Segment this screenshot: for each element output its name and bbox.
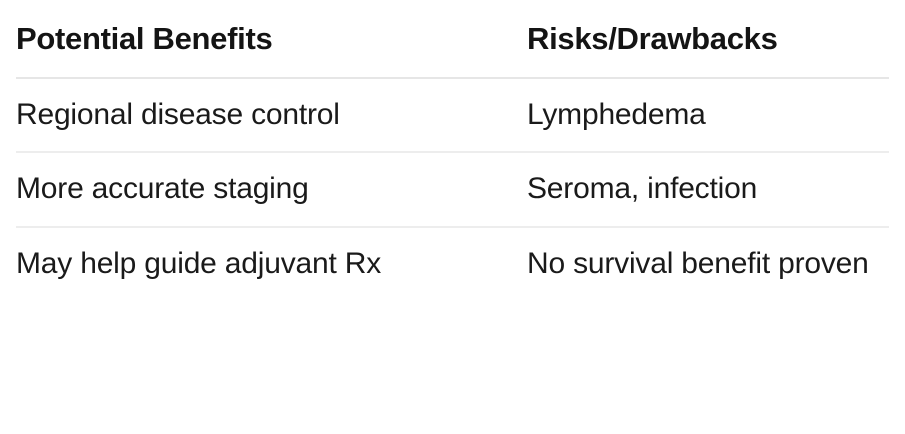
cell-text: More accurate staging [16,171,494,206]
table-cell-benefits: More accurate staging [16,152,525,226]
table-cell-risks: No survival benefit proven [525,227,889,300]
cell-text: May help guide adjuvant Rx [16,246,494,281]
table-row: May help guide adjuvant Rx No survival b… [16,227,889,300]
table-header: Potential Benefits Risks/Drawbacks [16,0,889,78]
table-row: More accurate staging Seroma, infection [16,152,889,226]
cell-text: Seroma, infection [527,171,889,206]
column-header-potential-benefits: Potential Benefits [16,0,525,78]
column-header-risks-drawbacks: Risks/Drawbacks [525,0,889,78]
cell-text: Lymphedema [527,97,889,132]
table-cell-benefits: Regional disease control [16,78,525,152]
table-cell-benefits: May help guide adjuvant Rx [16,227,525,300]
table-container: Potential Benefits Risks/Drawbacks Regio… [0,0,905,300]
table-row: Regional disease control Lymphedema [16,78,889,152]
table-cell-risks: Seroma, infection [525,152,889,226]
benefits-risks-table: Potential Benefits Risks/Drawbacks Regio… [16,0,889,300]
table-cell-risks: Lymphedema [525,78,889,152]
cell-text: Regional disease control [16,97,494,132]
cell-text: No survival benefit proven [527,246,889,281]
table-body: Regional disease control Lymphedema More… [16,78,889,300]
table-header-row: Potential Benefits Risks/Drawbacks [16,0,889,78]
